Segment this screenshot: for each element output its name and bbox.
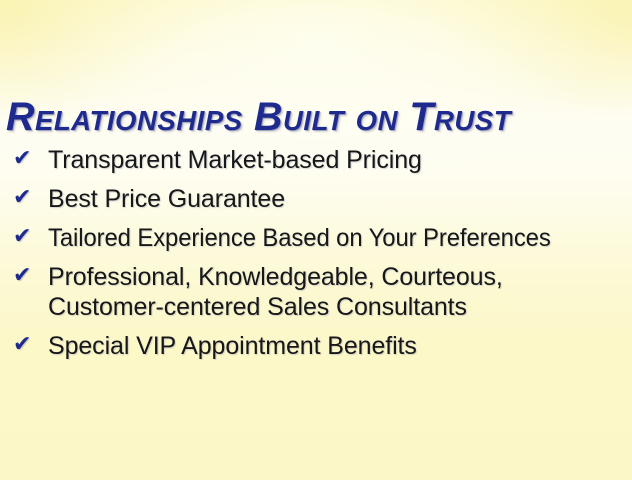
- check-icon: ✔: [13, 334, 31, 356]
- list-item: ✔ Transparent Market-based Pricing: [0, 145, 632, 175]
- list-item: ✔ Tailored Experience Based on Your Pref…: [0, 223, 632, 253]
- list-item: ✔ Best Price Guarantee: [0, 184, 632, 214]
- page-title: Relationships Built on Trust: [6, 96, 621, 138]
- check-icon: ✔: [13, 148, 31, 170]
- check-icon: ✔: [13, 187, 31, 209]
- slide-canvas: Relationships Built on Trust ✔ Transpare…: [0, 0, 632, 480]
- list-item-label: Transparent Market-based Pricing: [48, 145, 632, 175]
- benefits-list: ✔ Transparent Market-based Pricing ✔ Bes…: [0, 145, 632, 370]
- list-item-label: Special VIP Appointment Benefits: [48, 331, 632, 361]
- list-item-label: Tailored Experience Based on Your Prefer…: [48, 223, 606, 253]
- list-item: ✔ Professional, Knowledgeable, Courteous…: [0, 262, 632, 322]
- check-icon: ✔: [13, 265, 31, 287]
- list-item: ✔ Special VIP Appointment Benefits: [0, 331, 632, 361]
- check-icon: ✔: [13, 226, 31, 248]
- list-item-label: Professional, Knowledgeable, Courteous, …: [48, 262, 608, 322]
- list-item-label: Best Price Guarantee: [48, 184, 632, 214]
